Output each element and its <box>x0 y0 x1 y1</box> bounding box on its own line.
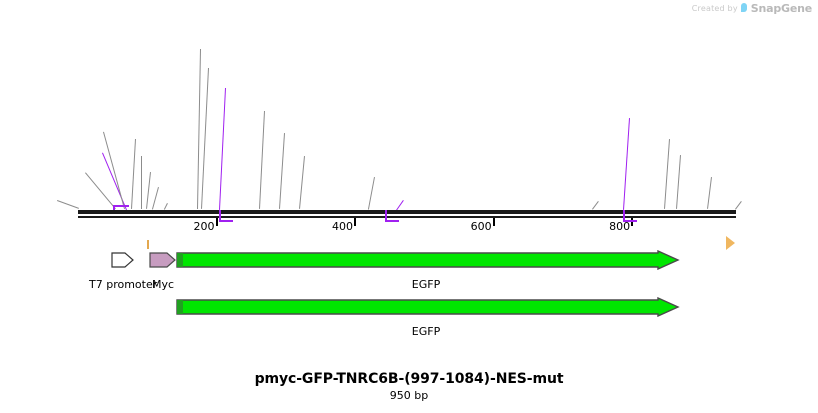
primer-bar-exfp-r[interactable] <box>385 220 399 222</box>
primer-tick-egfp-c <box>623 210 625 222</box>
plasmid-title: pmyc-GFP-TNRC6B-(997-1084)-NES-mut <box>0 371 818 387</box>
feature-egfp-1[interactable] <box>176 250 680 274</box>
feature-egfp-2[interactable] <box>176 297 680 321</box>
orf-bar <box>147 240 149 249</box>
primer-bar-egfp-c[interactable] <box>623 220 637 222</box>
feature-t7-promoter[interactable] <box>111 250 135 274</box>
t7-promoter-arrow-icon <box>111 250 135 270</box>
plasmid-length: 950 bp <box>0 389 818 402</box>
primer-mark-layer <box>0 0 818 240</box>
orf-arrow-head-icon <box>726 236 735 250</box>
feature-label-egfp-2: EGFP <box>412 325 440 338</box>
primer-bar-egfp-n[interactable] <box>219 220 233 222</box>
primer-tick-exfp-r <box>385 210 387 222</box>
feature-label-egfp-1: EGFP <box>412 278 440 291</box>
myc-arrow-icon <box>149 250 177 270</box>
egfp-arrow-icon <box>176 250 680 270</box>
primer-bar-t7[interactable] <box>113 205 129 207</box>
feature-myc[interactable] <box>149 250 177 274</box>
primer-tick-egfp-n <box>219 210 221 222</box>
feature-label-t7-promoter: T7 promoter <box>89 278 157 291</box>
primer-tick-t7 <box>113 205 115 210</box>
egfp-arrow-icon <box>176 297 680 317</box>
feature-label-myc: Myc <box>152 278 174 291</box>
